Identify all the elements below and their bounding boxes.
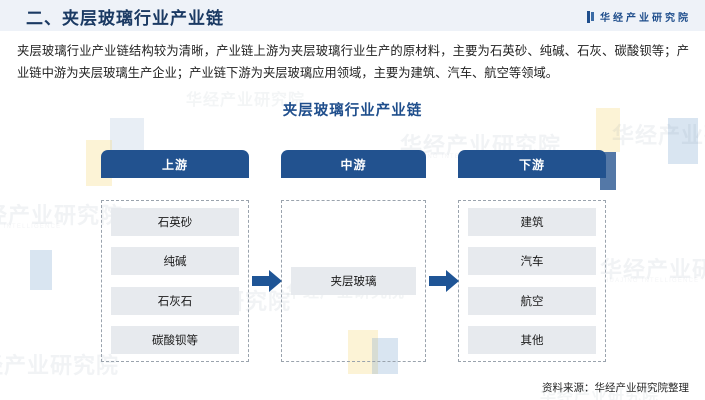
- stage-upstream: 上游 石英砂 纯碱 石灰石 碳酸钡等: [101, 150, 249, 178]
- brand-logo: 华经产业研究院: [587, 9, 691, 24]
- decor-block-blue-3: [668, 118, 698, 164]
- stage-downstream: 下游 建筑 汽车 航空 其他: [458, 150, 606, 178]
- watermark-text: 华经产业研究院: [612, 118, 705, 150]
- brand-logo-text: 华经产业研究院: [600, 9, 691, 24]
- chart-title: 夹层玻璃行业产业链: [0, 99, 705, 120]
- page-root: 华经产业研究院 HUAJING INTELLIGENCE 华经产业研究院 华经产…: [0, 0, 705, 400]
- list-item: 航空: [468, 287, 596, 315]
- stage-header-downstream: 下游: [458, 150, 606, 178]
- list-item: 碳酸钡等: [111, 326, 239, 354]
- bar-mark-icon: [587, 11, 595, 23]
- list-item: 建筑: [468, 208, 596, 236]
- stage-header-upstream: 上游: [101, 150, 249, 178]
- list-item: 纯碱: [111, 247, 239, 275]
- list-item: 石灰石: [111, 287, 239, 315]
- stage-body-midstream: 夹层玻璃: [281, 200, 426, 362]
- arrow-right-icon: [429, 268, 459, 294]
- stage-body-upstream: 石英砂 纯碱 石灰石 碳酸钡等: [101, 200, 249, 362]
- stage-header-midstream: 中游: [281, 150, 426, 178]
- list-item: 夹层玻璃: [291, 267, 416, 295]
- decor-block-blue: [30, 250, 52, 290]
- stage-body-downstream: 建筑 汽车 航空 其他: [458, 200, 606, 362]
- source-note: 资料来源：华经产业研究院整理: [542, 380, 689, 395]
- page-title: 二、夹层玻璃行业产业链: [26, 4, 224, 29]
- list-item: 汽车: [468, 247, 596, 275]
- watermark-text: 华经产业研究院: [600, 252, 705, 284]
- watermark-sub: HUAJING INTELLIGENCE: [604, 278, 699, 284]
- body-paragraph: 夹层玻璃行业产业链结构较为清晰，产业链上游为夹层玻璃行业生产的原材料，主要为石英…: [17, 40, 689, 84]
- stage-midstream: 中游 夹层玻璃: [281, 150, 426, 178]
- watermark-sub: HUAJING INTELLIGENCE: [0, 224, 61, 230]
- arrow-right-icon: [252, 268, 282, 294]
- list-item: 其他: [468, 326, 596, 354]
- list-item: 石英砂: [111, 208, 239, 236]
